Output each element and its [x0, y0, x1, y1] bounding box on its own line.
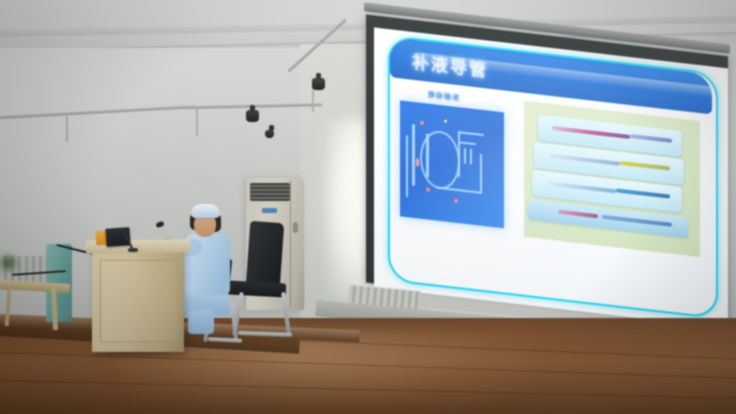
catheter-package-photo [524, 101, 700, 257]
plant-blur [0, 252, 20, 274]
projection-screen[interactable]: 补液导管 静脉输液 [362, 6, 736, 306]
rail-drop-b [196, 106, 198, 136]
spotlight-icon-1 [246, 110, 259, 122]
screen-frame-border: 补液导管 静脉输液 [366, 14, 728, 324]
iv-infusion-diagram [400, 100, 504, 228]
presenter-legs [188, 310, 214, 334]
nurse-cap-icon [191, 204, 220, 218]
lecture-room-scene: 补液导管 静脉输液 [0, 0, 736, 414]
podium-front-panel [100, 260, 178, 342]
ac-brand-badge [262, 208, 277, 213]
ac-vent-grille [250, 183, 290, 201]
screen-surface: 补液导管 静脉输液 [374, 27, 728, 328]
spotlight-icon-2 [312, 78, 325, 90]
ac-handle[interactable] [293, 222, 298, 233]
ac-panel-seam [290, 180, 291, 308]
podium[interactable] [92, 248, 184, 352]
spotlight-icon-3 [265, 130, 274, 138]
presenter [178, 204, 240, 336]
office-chair-back[interactable] [246, 221, 285, 289]
rail-drop-a [66, 116, 68, 142]
